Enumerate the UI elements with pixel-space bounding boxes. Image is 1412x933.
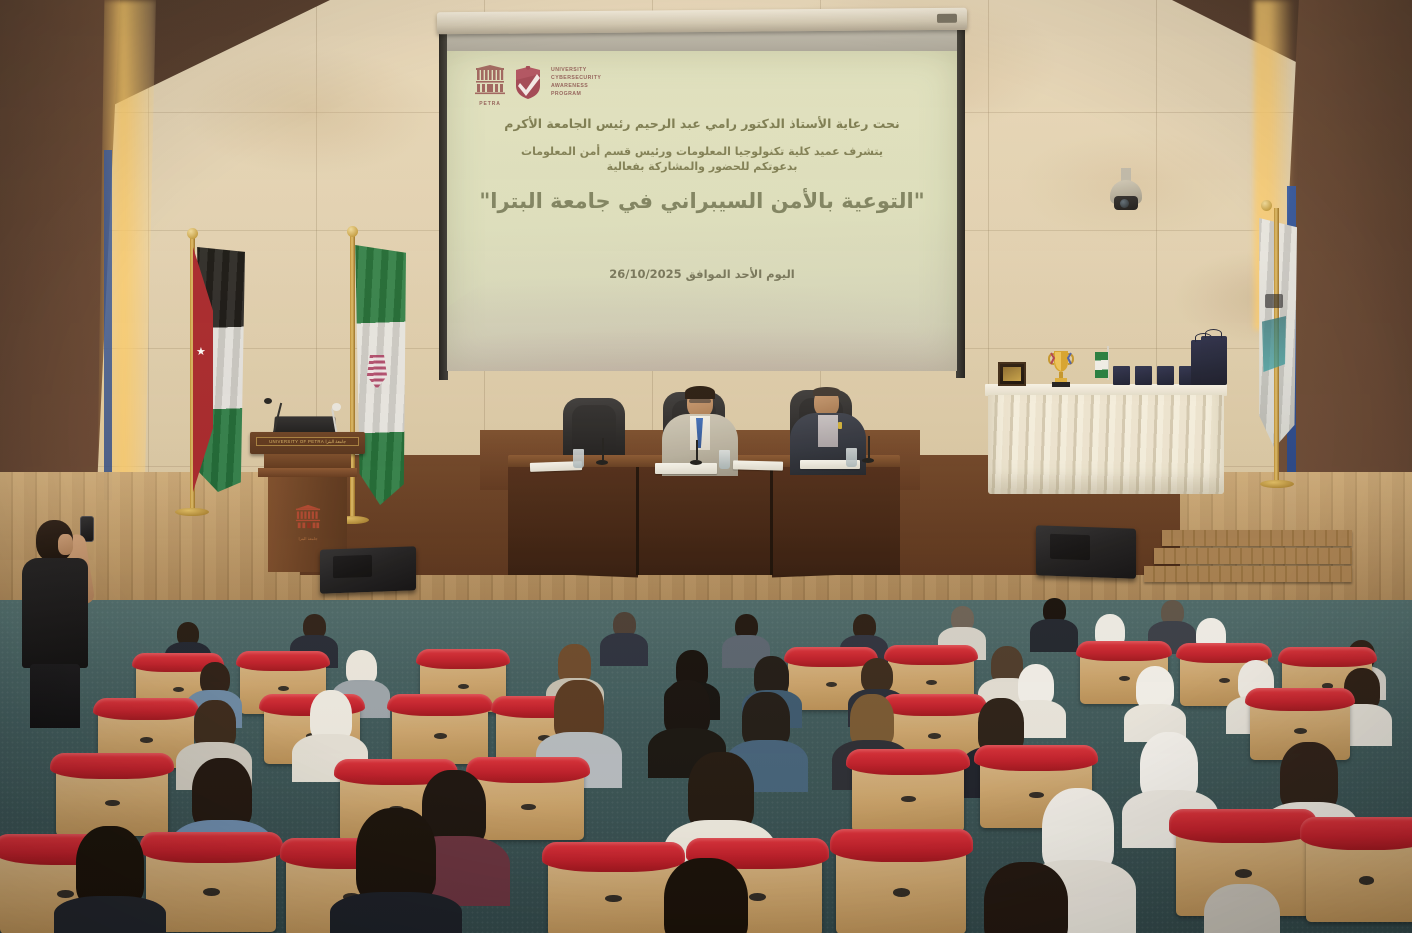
attendee xyxy=(952,862,1098,933)
flagpole-base xyxy=(1260,480,1294,488)
screen-roller-housing xyxy=(437,8,967,35)
podium-petra-logo-icon: جامعة البترا xyxy=(294,504,322,538)
attendee-hijab xyxy=(1124,666,1186,740)
podium-nameplate-text: UNIVERSITY OF PETRA جامعة البترا xyxy=(269,439,346,445)
roller-end-cap xyxy=(937,14,957,23)
seat[interactable] xyxy=(852,756,964,832)
auditorium-scene: PETRA UNIVERSITY CYBERSECURITY xyxy=(0,0,1412,933)
awards-table xyxy=(985,384,1227,494)
white-flag-logo-dark xyxy=(1265,294,1283,308)
podium-logo-subtext: جامعة البترا xyxy=(294,536,322,541)
screen-edge-right xyxy=(956,30,965,378)
cameraman-vest xyxy=(22,558,88,668)
projector-screen: PETRA UNIVERSITY CYBERSECURITY xyxy=(441,10,963,380)
attendee xyxy=(54,826,166,933)
water-glass xyxy=(719,450,730,469)
speaker-center-glasses xyxy=(689,399,711,403)
speaker-right-lapel-pin xyxy=(838,422,842,429)
attendee xyxy=(330,808,462,933)
slide-event-title: "التوعية بالأمن السيبراني في جامعة البتر… xyxy=(469,189,935,213)
flagpole-finial xyxy=(347,226,358,237)
head-table-seam xyxy=(770,467,773,575)
stage-monitor-speaker-left xyxy=(320,546,416,593)
cameraman xyxy=(14,512,106,727)
head-table-front xyxy=(508,467,900,575)
gift-bag xyxy=(1201,336,1227,385)
cameraman-legs xyxy=(30,664,80,728)
gift-box xyxy=(1135,366,1152,385)
flagpole-finial xyxy=(1261,200,1272,211)
stage-monitor-speaker-right xyxy=(1036,525,1136,578)
attendee xyxy=(600,612,648,664)
jordan-flag-star: ★ xyxy=(196,348,205,357)
seat[interactable] xyxy=(836,838,966,933)
blue-accent-strip-left xyxy=(104,150,112,500)
ucap-line-4: PROGRAM xyxy=(551,91,601,99)
university-of-petra-crest-icon: PETRA xyxy=(475,65,505,101)
camera-lens xyxy=(1120,199,1129,208)
water-glass xyxy=(846,448,857,467)
speaker-right-hair xyxy=(813,387,840,396)
stage-step xyxy=(1162,530,1352,546)
water-glass xyxy=(573,449,584,468)
papers xyxy=(733,460,783,470)
speaker-center-hair xyxy=(685,386,715,399)
attendee xyxy=(632,858,778,933)
seat[interactable] xyxy=(56,760,168,836)
attendee xyxy=(1176,884,1306,933)
slide-host-line: يتشرف عميد كلية تكنولوجيا المعلومات ورئي… xyxy=(469,144,935,160)
speaker-right-shirt xyxy=(818,415,838,447)
petra-logo-text: PETRA xyxy=(475,101,505,107)
awards-table-skirt xyxy=(988,395,1224,494)
slide-invite-line: بدعوتكم للحضور والمشاركة بفعالية xyxy=(469,159,935,175)
cybersecurity-shield-icon xyxy=(514,66,542,100)
cameraman-face xyxy=(58,534,73,555)
attendee xyxy=(1030,598,1078,650)
ucap-line-3: AWARENESS xyxy=(551,83,601,91)
flagpole-finial xyxy=(187,228,198,239)
gift-box xyxy=(1157,366,1174,385)
seat[interactable] xyxy=(392,700,488,764)
flagpole-base xyxy=(175,508,209,516)
seat[interactable] xyxy=(1306,826,1412,922)
papers xyxy=(655,463,717,474)
ucap-line-1: UNIVERSITY xyxy=(551,67,601,75)
slide-logo-row: PETRA UNIVERSITY CYBERSECURITY xyxy=(475,65,935,101)
gift-box xyxy=(1113,366,1130,385)
ucap-line-2: CYBERSECURITY xyxy=(551,75,601,83)
podium-collar xyxy=(258,468,357,477)
desk-flag xyxy=(1095,352,1108,378)
head-table-seam xyxy=(636,467,639,575)
stage-step xyxy=(1144,566,1352,582)
gold-trophy-icon xyxy=(1048,348,1074,388)
podium-nameplate: UNIVERSITY OF PETRA جامعة البترا xyxy=(256,437,359,446)
slide-event-date: اليوم الأحد الموافق 26/10/2025 xyxy=(469,267,935,281)
white-flag-logo-teal xyxy=(1262,316,1286,372)
slide-patronage-line: نحت رعاية الأستاذ الدكتور رامي عبد الرحي… xyxy=(469,115,935,134)
framed-plaque xyxy=(998,362,1026,386)
podium-microphone-icon xyxy=(264,398,272,404)
slide-surface: PETRA UNIVERSITY CYBERSECURITY xyxy=(447,51,957,371)
dome-security-camera-icon xyxy=(1110,168,1142,214)
cybersecurity-program-text: UNIVERSITY CYBERSECURITY AWARENESS PROGR… xyxy=(551,67,601,99)
stage-step xyxy=(1154,548,1352,564)
podium-reading-lamp-icon xyxy=(332,403,341,411)
